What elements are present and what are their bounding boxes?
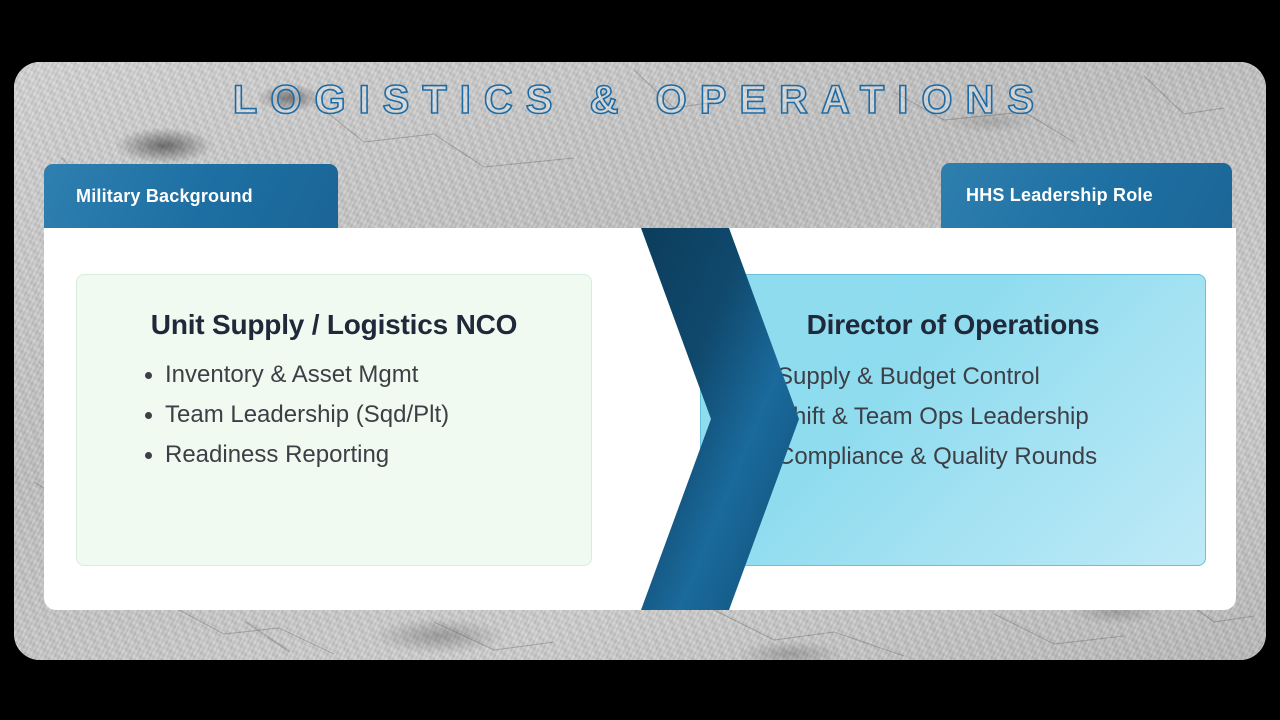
list-item: Supply & Budget Control (749, 357, 1187, 397)
list-item: Shift & Team Ops Leadership (749, 397, 1187, 437)
slide-canvas: Logistics & Operations Military Backgrou… (0, 0, 1280, 720)
tab-military-background[interactable]: Military Background (44, 164, 338, 229)
tab-hhs-leadership-role[interactable]: HHS Leadership Role (941, 163, 1232, 228)
list-item: Compliance & Quality Rounds (749, 437, 1187, 477)
panel-right-bullet-list: Supply & Budget Control Shift & Team Ops… (749, 357, 1187, 477)
panel-left-heading: Unit Supply / Logistics NCO (95, 309, 573, 341)
list-item: Readiness Reporting (137, 435, 573, 475)
panel-military-background: Unit Supply / Logistics NCO Inventory & … (76, 274, 592, 566)
content-card: Unit Supply / Logistics NCO Inventory & … (44, 228, 1236, 610)
list-item: Inventory & Asset Mgmt (137, 355, 573, 395)
page-title: Logistics & Operations (0, 78, 1280, 123)
panel-right-heading: Director of Operations (719, 309, 1187, 341)
list-item: Team Leadership (Sqd/Plt) (137, 395, 573, 435)
tab-military-background-label: Military Background (76, 186, 253, 207)
tab-hhs-leadership-role-label: HHS Leadership Role (966, 185, 1153, 206)
panel-left-bullet-list: Inventory & Asset Mgmt Team Leadership (… (137, 355, 573, 475)
panel-hhs-leadership-role: Director of Operations Supply & Budget C… (700, 274, 1206, 566)
